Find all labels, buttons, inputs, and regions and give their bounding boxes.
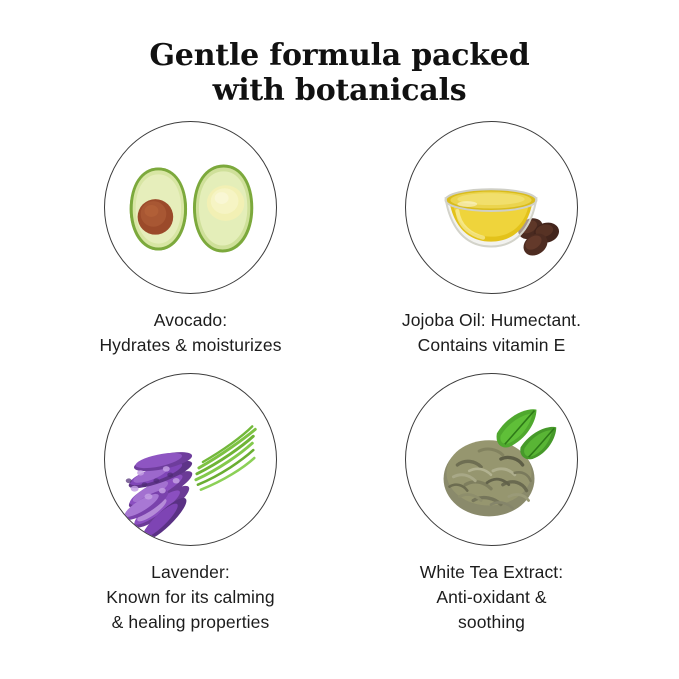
white-tea-caption-line-2: Anti-oxidant &	[322, 585, 661, 610]
lavender-image-circle	[104, 373, 277, 546]
white-tea-leaves-icon	[406, 374, 577, 545]
jojoba-oil-caption-line-2: Contains vitamin E	[322, 333, 661, 358]
ingredient-card-white-tea: White Tea Extract: Anti-oxidant & soothi…	[322, 364, 661, 635]
lavender-caption-line-3: & healing properties	[21, 610, 360, 635]
jojoba-oil-bowl-icon	[406, 122, 577, 293]
ingredient-card-avocado: Avocado: Hydrates & moisturizes	[21, 112, 360, 358]
page-title-line-1: Gentle formula packed	[0, 38, 679, 73]
avocado-image-circle	[104, 121, 277, 294]
ingredient-card-lavender: Lavender: Known for its calming & healin…	[21, 364, 360, 635]
ingredient-card-jojoba-oil: Jojoba Oil: Humectant. Contains vitamin …	[322, 112, 661, 358]
white-tea-caption-line-1: White Tea Extract:	[322, 560, 661, 585]
botanicals-infographic: Gentle formula packed with botanicals	[0, 0, 679, 679]
jojoba-oil-image-circle	[405, 121, 578, 294]
lavender-bouquet-icon	[105, 374, 276, 545]
lavender-caption: Lavender: Known for its calming & healin…	[21, 560, 360, 635]
white-tea-caption: White Tea Extract: Anti-oxidant & soothi…	[322, 560, 661, 635]
lavender-caption-line-2: Known for its calming	[21, 585, 360, 610]
white-tea-caption-line-3: soothing	[322, 610, 661, 635]
jojoba-oil-caption-line-1: Jojoba Oil: Humectant.	[322, 308, 661, 333]
jojoba-oil-caption: Jojoba Oil: Humectant. Contains vitamin …	[322, 308, 661, 358]
lavender-caption-line-1: Lavender:	[21, 560, 360, 585]
page-title: Gentle formula packed with botanicals	[0, 38, 679, 108]
avocado-caption-line-2: Hydrates & moisturizes	[21, 333, 360, 358]
page-title-line-2: with botanicals	[0, 73, 679, 108]
avocado-halves-icon	[105, 122, 276, 293]
white-tea-image-circle	[405, 373, 578, 546]
ingredient-grid: Avocado: Hydrates & moisturizes	[0, 112, 679, 672]
avocado-caption: Avocado: Hydrates & moisturizes	[21, 308, 360, 358]
avocado-caption-line-1: Avocado:	[21, 308, 360, 333]
